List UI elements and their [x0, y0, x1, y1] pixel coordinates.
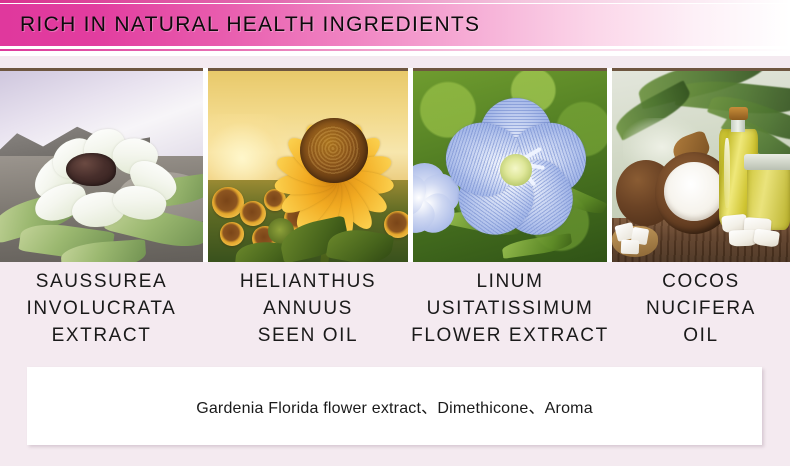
header-gradient-bar: RICH IN NATURAL HEALTH INGREDIENTS — [0, 4, 790, 46]
ingredients-banner: RICH IN NATURAL HEALTH INGREDIENTS — [0, 0, 790, 466]
ingredient-label-cocos: COCOS NUCIFERA OIL — [612, 268, 790, 349]
ingredient-label-row: SAUSSUREA INVOLUCRATA EXTRACT HELIANTHUS… — [0, 262, 790, 362]
lotus-flower-core — [66, 153, 116, 186]
background-sunflower — [220, 222, 244, 245]
page-title: RICH IN NATURAL HEALTH INGREDIENTS — [20, 13, 480, 37]
coconut-scene — [612, 71, 790, 265]
additional-ingredients-box: Gardenia Florida flower extract、Dimethic… — [27, 367, 762, 445]
additional-ingredients-text: Gardenia Florida flower extract、Dimethic… — [196, 394, 593, 418]
oil-jar-lid — [744, 154, 790, 170]
header-bottom-rule — [0, 49, 790, 51]
header-top-rule — [0, 0, 790, 3]
snow-lotus-photo — [0, 68, 203, 265]
ingredient-label-linum: LINUM USITATISSIMUM FLOWER EXTRACT — [408, 268, 612, 349]
coconut-oil-photo — [612, 68, 790, 265]
ingredient-photo-strip — [0, 68, 790, 262]
coconut-flesh-slice — [753, 228, 780, 247]
sunflower-field-photo — [208, 68, 408, 265]
bottle-highlight — [724, 138, 729, 208]
flax-flower-center — [500, 154, 532, 186]
sunflower-scene — [208, 71, 408, 265]
sunflower-seed-disc — [300, 118, 367, 183]
flax-scene — [413, 71, 607, 265]
flax-flower-photo — [413, 68, 607, 265]
bottle-cap — [729, 107, 748, 121]
banner-header: RICH IN NATURAL HEALTH INGREDIENTS — [0, 0, 790, 56]
coconut-chunk — [621, 239, 639, 253]
primary-flax-flower — [444, 98, 588, 242]
lotus-bloom — [28, 129, 174, 238]
foreground-sunflower — [264, 83, 404, 219]
ingredient-label-saussurea: SAUSSUREA INVOLUCRATA EXTRACT — [0, 268, 203, 349]
snow-lotus-scene — [0, 71, 203, 265]
ingredient-label-helianthus: HELIANTHUS ANNUUS SEEN OIL — [208, 268, 408, 349]
background-sunflower — [240, 201, 266, 226]
